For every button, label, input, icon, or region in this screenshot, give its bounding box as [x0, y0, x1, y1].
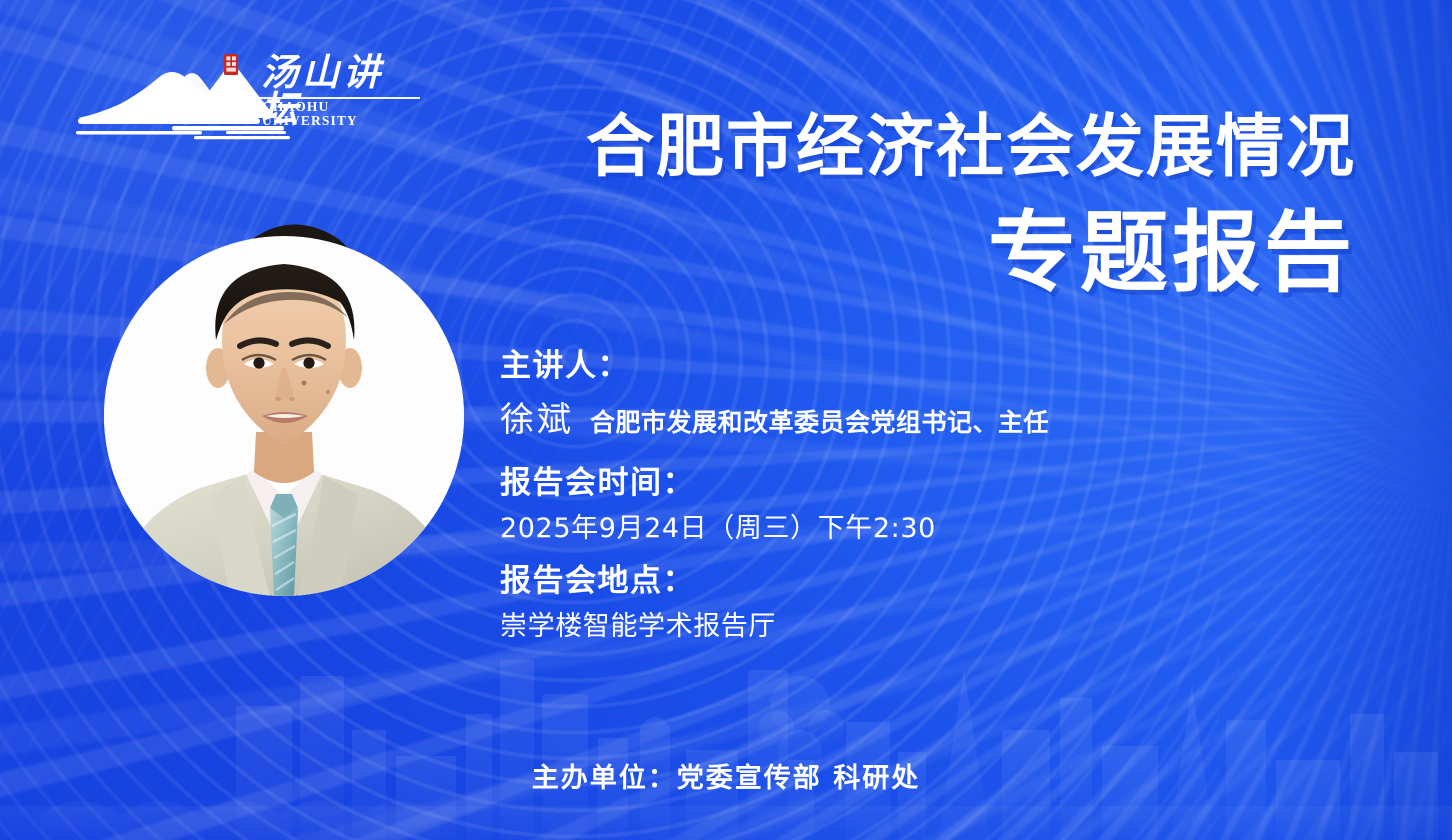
speaker-name: 徐斌 — [500, 392, 574, 441]
time-label: 报告会时间： — [500, 465, 1380, 503]
brand-logo: 汤山讲坛 CHAOHU UNIVERSITY — [76, 52, 416, 146]
portrait-photo — [104, 236, 464, 596]
speaker-row: 徐斌 合肥市发展和改革委员会党组书记、主任 — [500, 392, 1380, 441]
poster-root: 汤山讲坛 CHAOHU UNIVERSITY 合肥市经济社会发展情况 专题报告 — [0, 0, 1452, 840]
venue-label: 报告会地点： — [500, 563, 1380, 601]
red-seal-icon — [224, 54, 238, 75]
speaker-title: 合肥市发展和改革委员会党组书记、主任 — [590, 403, 1049, 439]
logo-name-en: CHAOHU UNIVERSITY — [262, 100, 416, 127]
spacer — [500, 547, 1380, 563]
speaker-portrait — [104, 236, 464, 596]
headline-line-1: 合肥市经济社会发展情况 — [586, 112, 1356, 184]
speaker-label: 主讲人： — [500, 348, 1380, 386]
venue-value: 崇学楼智能学术报告厅 — [500, 609, 1380, 645]
spacer — [500, 441, 1380, 465]
organizer-text: 主办单位：党委宣传部 科研处 — [532, 756, 920, 795]
portrait-circle — [104, 236, 464, 596]
portrait-figure-icon — [104, 236, 464, 596]
footer-block: 主办单位：党委宣传部 科研处 — [0, 756, 1452, 795]
headline-block: 合肥市经济社会发展情况 专题报告 — [586, 112, 1356, 298]
event-details: 主讲人： 徐斌 合肥市发展和改革委员会党组书记、主任 报告会时间： 2025年9… — [500, 348, 1380, 645]
time-value: 2025年9月24日（周三）下午2:30 — [500, 511, 1380, 547]
headline-line-2: 专题报告 — [586, 208, 1356, 298]
